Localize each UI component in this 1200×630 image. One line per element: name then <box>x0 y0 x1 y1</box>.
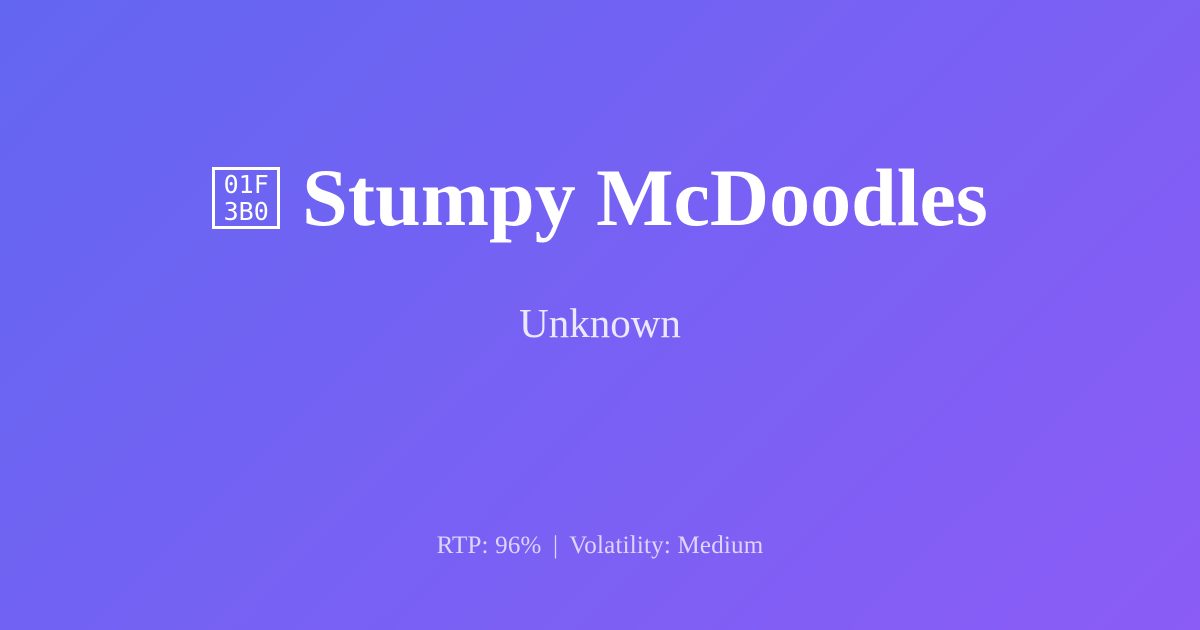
volatility-value: Medium <box>677 532 763 559</box>
slot-machine-icon: 01F 3B0 <box>212 167 280 229</box>
share-card-main: 01F 3B0 Stumpy McDoodles Unknown <box>0 0 1200 497</box>
title-row: 01F 3B0 Stumpy McDoodles <box>0 155 1200 241</box>
rtp-label: RTP: <box>437 532 489 559</box>
tofu-codepoint-top: 01F <box>224 171 269 198</box>
volatility-label: Volatility: <box>569 532 671 559</box>
game-meta-line: RTP: 96% | Volatility: Medium <box>437 532 764 560</box>
page-title: Stumpy McDoodles <box>302 155 988 241</box>
card-footer: RTP: 96% | Volatility: Medium <box>0 497 1200 630</box>
meta-separator: | <box>548 532 563 559</box>
tofu-codepoint-bottom: 3B0 <box>224 198 269 225</box>
page-subtitle: Unknown <box>519 299 681 348</box>
rtp-value: 96% <box>495 532 541 559</box>
